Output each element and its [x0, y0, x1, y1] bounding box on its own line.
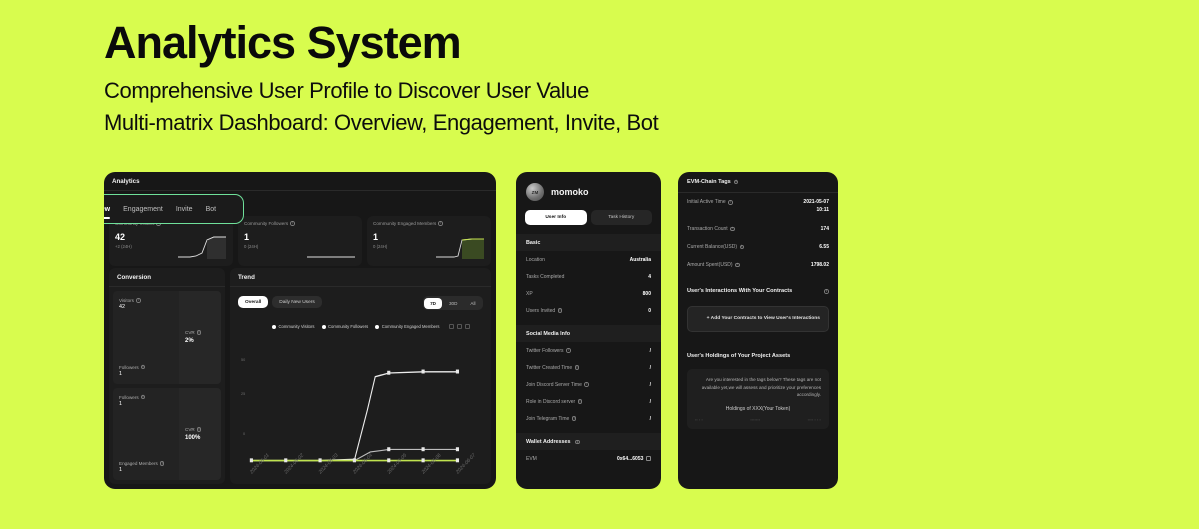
row-label-text: Twitter Created Time [526, 365, 572, 371]
section-header-text: Wallet Addresses [526, 439, 571, 445]
headline-block: Analytics System Comprehensive User Prof… [104, 20, 1004, 139]
info-icon[interactable]: i [584, 382, 589, 387]
blurred-cell: ▪▪▪▪ ▪ ▪ ▪ [808, 417, 821, 422]
info-icon[interactable]: i [141, 395, 146, 400]
trend-chart-svg: 2024-06-01 2024-06-02 2024-06-03 2024-06… [230, 336, 491, 484]
tab-engagement[interactable]: Engagement [123, 206, 163, 213]
row-label: Join Discord Server Time i [526, 382, 589, 388]
legend-item-followers[interactable]: Community Followers [322, 324, 369, 329]
cvr-label-text: CVR [185, 330, 195, 335]
conversion-stage-to: Followers i 1 [119, 365, 173, 377]
cvr-box: CVR i 2% [179, 291, 221, 384]
trend-mode-toggle[interactable]: Overall Daily New Users [238, 296, 322, 308]
sparkline-followers [305, 233, 357, 261]
row-label: EVM [526, 456, 537, 462]
tab-task-history[interactable]: Task History [591, 210, 653, 225]
row-value: 800 [643, 291, 651, 297]
row-value-group: 2021-05-07 10:11 [803, 199, 829, 214]
row-label: Current Balance(USD) i [687, 244, 744, 250]
row-value: / [650, 399, 651, 405]
tab-bot[interactable]: Bot [206, 206, 217, 213]
legend-dot-icon [375, 325, 379, 329]
row-label: Location [526, 257, 545, 263]
divider [104, 190, 496, 191]
info-icon[interactable]: i [728, 200, 733, 205]
conversion-block-2: Followers i 1 Engaged Members i 1 [113, 388, 221, 481]
user-tabbar[interactable]: User Info Task History [516, 210, 661, 234]
row-label: Transaction Count i [687, 226, 735, 232]
x-tick-label: 2024-06-03 [318, 452, 339, 476]
row-label-text: Twitter Followers [526, 348, 564, 354]
tag-row-current-balance: Current Balance(USD) i 6.55 [678, 238, 838, 256]
row-value-date: 2021-05-07 [803, 199, 829, 207]
stage-label: Visitors i [119, 298, 173, 303]
conversion-block-1: Visitors i 42 Followers i 1 [113, 291, 221, 384]
row-value: 6.55 [819, 244, 829, 250]
info-icon[interactable]: i [566, 348, 571, 353]
user-profile-panel: ZM momoko User Info Task History Basic L… [516, 172, 661, 489]
section-header-social-media: Social Media Info [516, 325, 661, 342]
dashboard-tabbar[interactable]: Overview Engagement Invite Bot [104, 194, 244, 224]
section-header-text: User's Holdings of Your Project Assets [687, 353, 790, 359]
blurred-cell: ▪▪▪▪▪▪▪ [750, 417, 760, 422]
row-value: 1798.02 [811, 262, 829, 268]
y-tick-label-bottom: 0 [243, 432, 245, 436]
zoom-icon[interactable] [457, 324, 462, 329]
info-icon[interactable]: i [824, 289, 829, 294]
row-label-text: Users Invited [526, 308, 555, 314]
info-icon[interactable]: i [558, 308, 563, 313]
divider [230, 286, 491, 287]
stat-label-text: Community Engaged Members [373, 221, 436, 226]
row-value: 174 [821, 226, 829, 232]
x-tick-label: 2024-06-05 [387, 452, 408, 476]
trend-legend[interactable]: Community Visitors Community Followers C… [272, 324, 470, 329]
download-icon[interactable] [449, 324, 454, 329]
y-tick-label-mid: 25 [241, 392, 245, 396]
info-icon[interactable]: i [290, 221, 295, 226]
info-icon[interactable]: i [575, 440, 580, 445]
range-30d[interactable]: 30D [443, 298, 463, 309]
stage-label-text: Followers [119, 365, 139, 370]
row-label-text: Transaction Count [687, 226, 728, 232]
row-label-text: Initial Active Time [687, 199, 726, 207]
add-contracts-button[interactable]: + Add Your Contracts to View User's Inte… [687, 306, 829, 332]
info-icon[interactable]: i [197, 427, 202, 432]
row-value: / [650, 365, 651, 371]
row-label: XP [526, 291, 533, 297]
mode-overall[interactable]: Overall [238, 296, 268, 308]
info-icon[interactable]: i [578, 399, 583, 404]
dashboard-lower-row: Conversion Visitors i 42 [104, 268, 496, 489]
info-row-evm-address: EVM 0x64...6053 [516, 450, 661, 467]
blurred-cell: ▪▪ ▪ ▪ [695, 417, 703, 422]
info-icon[interactable]: i [141, 365, 146, 370]
sparkline-visitors [176, 233, 228, 261]
cvr-value: 2% [185, 338, 221, 344]
info-icon[interactable]: i [734, 180, 739, 185]
legend-item-engaged[interactable]: Community Engaged Members [375, 324, 439, 329]
conversion-title: Conversion [109, 268, 225, 286]
info-icon[interactable]: i [160, 461, 165, 466]
conversion-stages: Followers i 1 Engaged Members i 1 [113, 388, 179, 481]
mode-daily-new-users[interactable]: Daily New Users [272, 296, 321, 308]
info-icon[interactable]: i [572, 416, 577, 421]
info-icon[interactable]: i [575, 365, 580, 370]
stat-card-engaged-members[interactable]: Community Engaged Members i 1 0 (24H) [367, 216, 491, 266]
info-icon[interactable]: i [740, 245, 745, 250]
stat-label: Community Engaged Members i [373, 221, 485, 226]
conversion-stage-from: Visitors i 42 [119, 298, 173, 310]
row-label: Users Invited i [526, 308, 562, 314]
conversion-stage-to: Engaged Members i 1 [119, 461, 173, 473]
cvr-label: CVR i [185, 427, 221, 432]
info-icon[interactable]: i [735, 263, 740, 268]
stage-label-text: Engaged Members [119, 461, 158, 466]
row-value-time: 10:11 [803, 207, 829, 215]
legend-label: Community Followers [328, 324, 368, 329]
row-label-text: Join Telegram Time [526, 416, 569, 422]
x-tick-label: 2024-06-02 [284, 452, 305, 476]
stage-value: 1 [119, 401, 173, 407]
row-label: Join Telegram Time i [526, 416, 576, 422]
subtitle-line-2: Multi-matrix Dashboard: Overview, Engage… [104, 107, 1004, 139]
row-label-text: Amount Spent(USD) [687, 262, 733, 268]
conversion-stage-from: Followers i 1 [119, 395, 173, 407]
info-icon[interactable]: i [730, 227, 735, 232]
section-header-evm-chain-tags: EVM-Chain Tags i [678, 172, 838, 192]
info-icon[interactable]: i [197, 330, 202, 335]
avatar: ZM [526, 183, 544, 201]
info-row-twitter-created-time: Twitter Created Time i / [516, 359, 661, 376]
tab-user-info[interactable]: User Info [525, 210, 587, 225]
row-label-text: Join Discord Server Time [526, 382, 582, 388]
row-label: Amount Spent(USD) i [687, 262, 740, 268]
section-header-wallet-addresses: Wallet Addresses i [516, 433, 661, 450]
stat-label-text: Community Followers [244, 221, 288, 226]
holdings-blurred-row: ▪▪ ▪ ▪ ▪▪▪▪▪▪▪ ▪▪▪▪ ▪ ▪ ▪ [695, 417, 821, 422]
cvr-box: CVR i 100% [179, 388, 221, 481]
info-row-location: Location Australia [516, 251, 661, 268]
stat-label: Community Followers i [244, 221, 356, 226]
row-value: / [650, 416, 651, 422]
range-7d[interactable]: 7D [424, 298, 442, 309]
cvr-label: CVR i [185, 330, 221, 335]
user-header: ZM momoko [516, 172, 661, 210]
info-icon[interactable]: i [136, 298, 141, 303]
stage-label-text: Visitors [119, 298, 134, 303]
section-header-text: User's Interactions With Your Contracts [687, 287, 792, 295]
row-value: / [650, 348, 651, 354]
analytics-dashboard-panel: Analytics Overview Engagement Invite Bot… [104, 172, 496, 489]
row-label: Twitter Created Time i [526, 365, 579, 371]
tag-row-initial-active-time: Initial Active Time i 2021-05-07 10:11 [678, 193, 838, 220]
legend-label: Community Engaged Members [382, 324, 440, 329]
trend-card: Trend Overall Daily New Users 7D 30D All… [230, 268, 491, 484]
chart-toolbar[interactable] [449, 324, 470, 329]
stage-value: 42 [119, 304, 173, 310]
cvr-value: 100% [185, 435, 221, 441]
row-value: 0 [648, 308, 651, 314]
section-header-user-holdings: User's Holdings of Your Project Assets [678, 346, 838, 366]
x-tick-label: 2024-06-01 [249, 452, 270, 476]
page-title: Analytics System [104, 20, 1004, 65]
row-value: / [650, 382, 651, 388]
copy-icon[interactable] [646, 456, 651, 461]
info-row-xp: XP 800 [516, 285, 661, 302]
info-row-join-telegram-time: Join Telegram Time i / [516, 410, 661, 427]
stage-label-text: Followers [119, 395, 139, 400]
tab-overview[interactable]: Overview [104, 206, 110, 213]
section-header-basic: Basic [516, 234, 661, 251]
stage-label: Followers i [119, 365, 173, 370]
row-label: Twitter Followers i [526, 348, 571, 354]
row-label-text: Role in Discord server [526, 399, 575, 405]
row-value-group: 0x64...6053 [617, 456, 651, 462]
y-tick-label-top: 50 [241, 358, 245, 362]
info-row-tasks-completed: Tasks Completed 4 [516, 268, 661, 285]
x-tick-label: 2024-06-07 [455, 452, 476, 476]
page-subtitle: Comprehensive User Profile to Discover U… [104, 75, 1004, 139]
stage-value: 1 [119, 371, 173, 377]
row-label: Role in Discord server i [526, 399, 582, 405]
conversion-stages: Visitors i 42 Followers i 1 [113, 291, 179, 384]
info-row-join-discord-server-time: Join Discord Server Time i / [516, 376, 661, 393]
row-value: 0x64...6053 [617, 456, 643, 462]
row-value: Australia [630, 257, 651, 263]
holdings-note: Are you interested in the tags below? Th… [695, 376, 821, 399]
legend-dot-icon [272, 325, 276, 329]
row-label-text: Current Balance(USD) [687, 244, 737, 250]
holdings-placeholder-box: Are you interested in the tags below? Th… [687, 369, 829, 429]
info-row-twitter-followers: Twitter Followers i / [516, 342, 661, 359]
conversion-card: Conversion Visitors i 42 [109, 268, 225, 484]
tag-row-amount-spent: Amount Spent(USD) i 1798.02 [678, 256, 838, 274]
trend-chart-plot: 50 25 0 [230, 336, 491, 484]
section-header-text: EVM-Chain Tags [687, 179, 731, 185]
range-all[interactable]: All [464, 298, 481, 309]
stage-label: Engaged Members i [119, 461, 173, 466]
row-label: Tasks Completed [526, 274, 564, 280]
sparkline-engaged [434, 233, 486, 261]
row-label: Initial Active Time i [687, 199, 733, 207]
row-value: 4 [648, 274, 651, 280]
conversion-body: Visitors i 42 Followers i 1 [109, 287, 225, 484]
info-row-role-in-discord-server: Role in Discord server i / [516, 393, 661, 410]
legend-item-visitors[interactable]: Community Visitors [272, 324, 315, 329]
settings-icon[interactable] [465, 324, 470, 329]
stat-card-followers[interactable]: Community Followers i 1 0 (24H) [238, 216, 362, 266]
trend-range-selector[interactable]: 7D 30D All [423, 296, 483, 310]
trend-title: Trend [230, 268, 491, 286]
tab-invite[interactable]: Invite [176, 206, 193, 213]
stage-label: Followers i [119, 395, 173, 400]
holdings-subtitle: Holdings of XXX(Your Token) [695, 406, 821, 412]
info-icon[interactable]: i [438, 221, 443, 226]
section-header-user-interactions: User's Interactions With Your Contracts … [678, 280, 838, 302]
info-row-users-invited: Users Invited i 0 [516, 302, 661, 319]
cvr-label-text: CVR [185, 427, 195, 432]
subtitle-line-1: Comprehensive User Profile to Discover U… [104, 75, 1004, 107]
tag-row-transaction-count: Transaction Count i 174 [678, 220, 838, 238]
onchain-tags-panel: EVM-Chain Tags i Initial Active Time i 2… [678, 172, 838, 489]
stage-value: 1 [119, 467, 173, 473]
analytics-panel-title: Analytics [104, 172, 496, 190]
x-tick-label: 2024-06-06 [421, 452, 442, 476]
legend-dot-icon [322, 325, 326, 329]
username: momoko [551, 187, 589, 197]
legend-label: Community Visitors [279, 324, 315, 329]
